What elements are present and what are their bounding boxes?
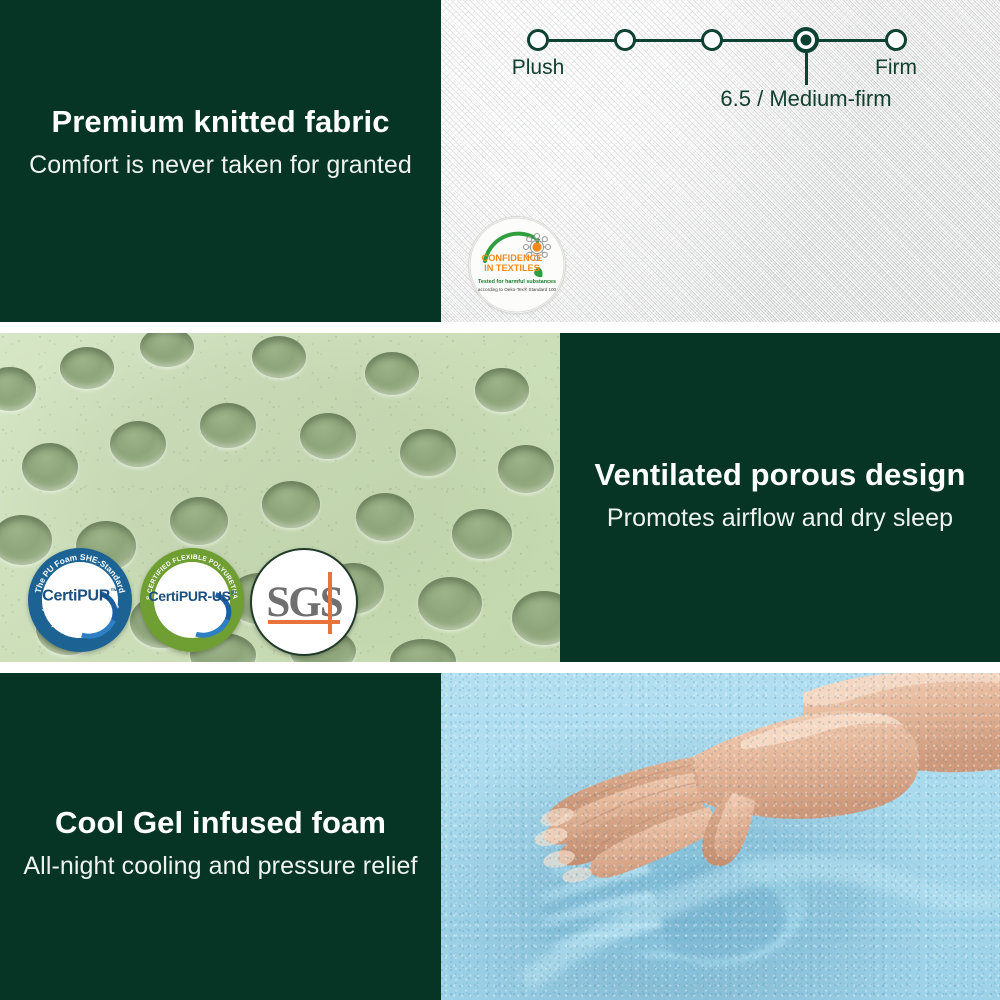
scale-step-2[interactable]	[614, 29, 636, 51]
panel-subline: Comfort is never taken for granted	[0, 150, 441, 180]
oeko-sub-line1: Tested for harmful substances	[478, 279, 556, 285]
panel-subline: All-night cooling and pressure relief	[0, 851, 441, 881]
certipur-us-wordmark: CertiPUR-US®	[148, 588, 235, 604]
panel-copy-premium-knitted-fabric: Premium knitted fabric Comfort is never …	[0, 0, 441, 322]
scale-step-1[interactable]	[527, 29, 549, 51]
sgs-badge: SGS	[250, 548, 358, 656]
product-feature-collage: Premium knitted fabric Comfort is never …	[0, 0, 1000, 1000]
panel-headline: Ventilated porous design	[560, 457, 1000, 493]
scale-label-selected: 6.5 / Medium-firm	[720, 86, 891, 112]
certipur-inner-disc: CertiPUR™	[42, 562, 119, 639]
scale-step-3[interactable]	[701, 29, 723, 51]
panel-headline: Premium knitted fabric	[0, 104, 441, 140]
feature-row-ventilated-porous-design: The PU Foam SHE-Standard by Europur AISB…	[0, 333, 1000, 662]
oeko-tex-badge-graphic: CONFIDENCE IN TEXTILES Tested for harmfu…	[469, 217, 565, 313]
certipur-badge: The PU Foam SHE-Standard by Europur AISB…	[28, 548, 132, 652]
oeko-title-line1: CONFIDENCE	[482, 253, 543, 263]
panel-copy-ventilated-porous-design: Ventilated porous design Promotes airflo…	[560, 333, 1000, 662]
certipur-wordmark: CertiPUR™	[42, 587, 118, 605]
feature-row-cool-gel-infused-foam: Cool Gel infused foam All-night cooling …	[0, 673, 1000, 1000]
scale-step-4-selected[interactable]	[793, 27, 819, 53]
panel-copy-cool-gel-infused-foam: Cool Gel infused foam All-night cooling …	[0, 673, 441, 1000]
firmness-scale: Plush Firm 6.5 / Medium-firm	[441, 0, 1000, 120]
certipur-us-inner-disc: CertiPUR-US®	[154, 562, 231, 639]
oeko-sub-line2: according to Oeko-Tex® Standard 100	[478, 286, 557, 292]
oeko-tex-badge: CONFIDENCE IN TEXTILES Tested for harmfu…	[469, 217, 565, 313]
gel-foam-grain-texture	[441, 673, 1000, 1000]
scale-label-firm: Firm	[875, 56, 917, 80]
knitted-fabric-image: Plush Firm 6.5 / Medium-firm	[441, 0, 1000, 322]
scale-step-5[interactable]	[885, 29, 907, 51]
certipur-us-badge: CONTAINS CERTIFIED FLEXIBLE POLYURETHANE…	[140, 548, 244, 652]
blue-gel-foam-image	[441, 673, 1000, 1000]
oeko-title-line2: IN TEXTILES	[484, 263, 540, 273]
sgs-cross-icon-horizontal	[268, 620, 340, 624]
sgs-cross-icon-vertical	[328, 572, 332, 634]
panel-headline: Cool Gel infused foam	[0, 805, 441, 841]
green-ventilated-foam-image: The PU Foam SHE-Standard by Europur AISB…	[0, 333, 560, 662]
panel-subline: Promotes airflow and dry sleep	[560, 503, 1000, 533]
scale-selected-stem	[805, 53, 808, 85]
feature-row-premium-knitted-fabric: Premium knitted fabric Comfort is never …	[0, 0, 1000, 322]
scale-label-plush: Plush	[512, 56, 565, 80]
